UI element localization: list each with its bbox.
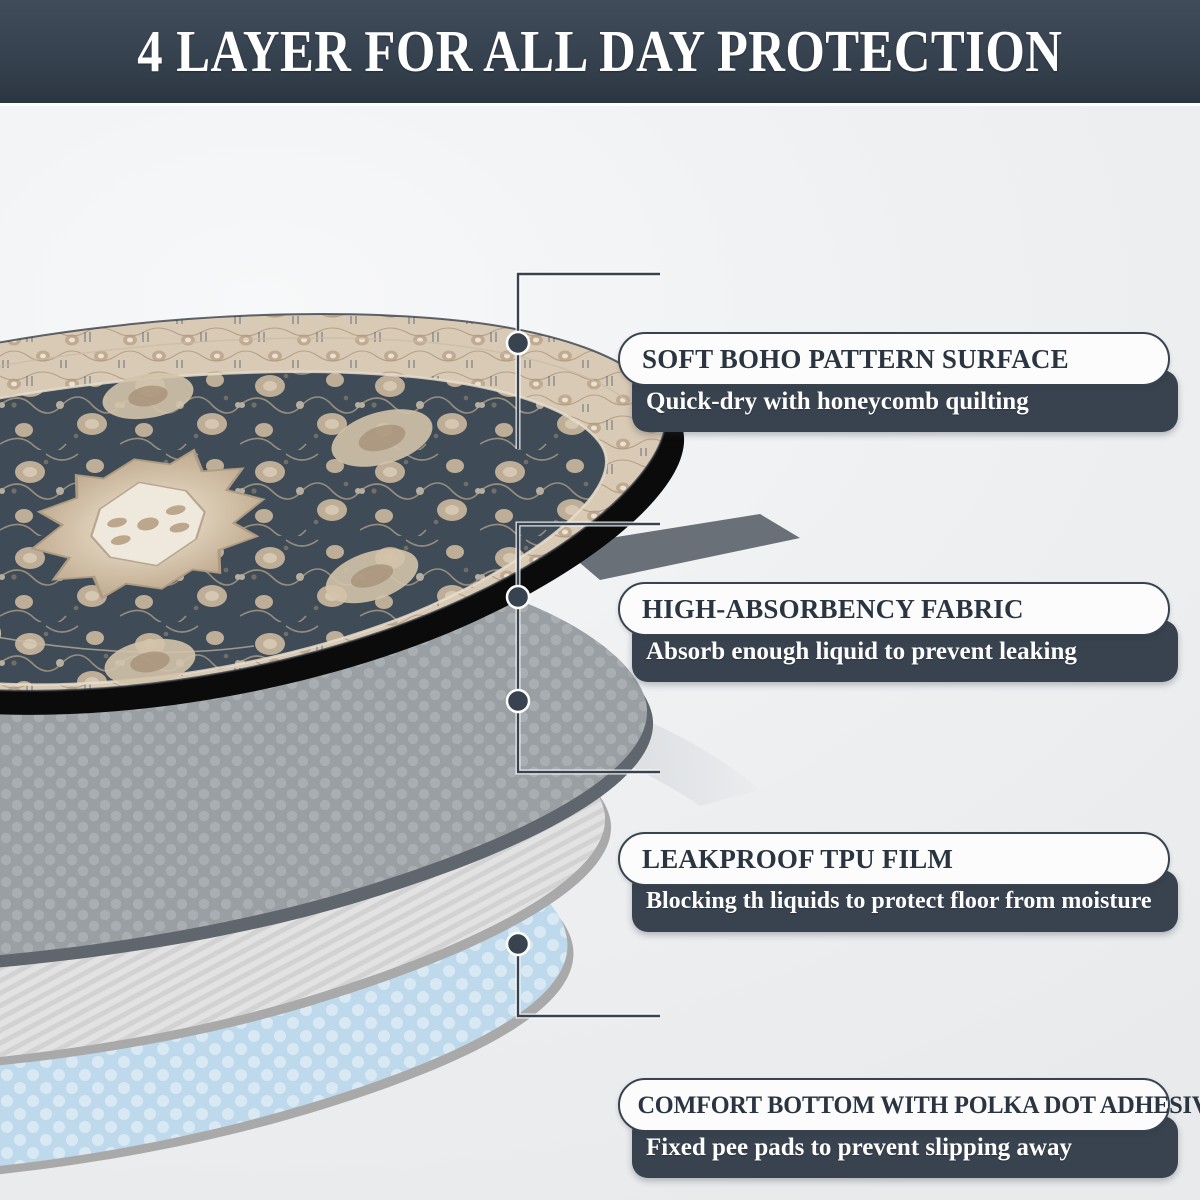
callout-title-pill: LEAKPROOF TPU FILM <box>618 832 1170 886</box>
page-title: 4 LAYER FOR ALL DAY PROTECTION <box>137 22 1062 81</box>
callout-subtitle: Quick-dry with honeycomb quilting <box>632 389 1029 414</box>
callout-title-pill: HIGH-ABSORBENCY FABRIC <box>618 582 1170 636</box>
callout-subtitle: Fixed pee pads to prevent slipping away <box>632 1135 1072 1160</box>
callout-subtitle: Absorb enough liquid to prevent leaking <box>632 639 1077 664</box>
callout-title: COMFORT BOTTOM WITH POLKA DOT ADHESIVE <box>620 1093 1200 1118</box>
callout-title: LEAKPROOF TPU FILM <box>620 846 953 873</box>
layer-diagram-canvas: Quick-dry with honeycomb quilting SOFT B… <box>0 106 1200 1200</box>
callout-title-pill: SOFT BOHO PATTERN SURFACE <box>618 332 1170 386</box>
header-bar: 4 LAYER FOR ALL DAY PROTECTION <box>0 0 1200 103</box>
callout-title-pill: COMFORT BOTTOM WITH POLKA DOT ADHESIVE <box>618 1078 1170 1132</box>
callout-title: HIGH-ABSORBENCY FABRIC <box>620 596 1024 623</box>
callout-subtitle: Blocking th liquids to protect floor fro… <box>632 889 1152 913</box>
infographic-page: 4 LAYER FOR ALL DAY PROTECTION <box>0 0 1200 1200</box>
callout-title: SOFT BOHO PATTERN SURFACE <box>620 346 1069 373</box>
